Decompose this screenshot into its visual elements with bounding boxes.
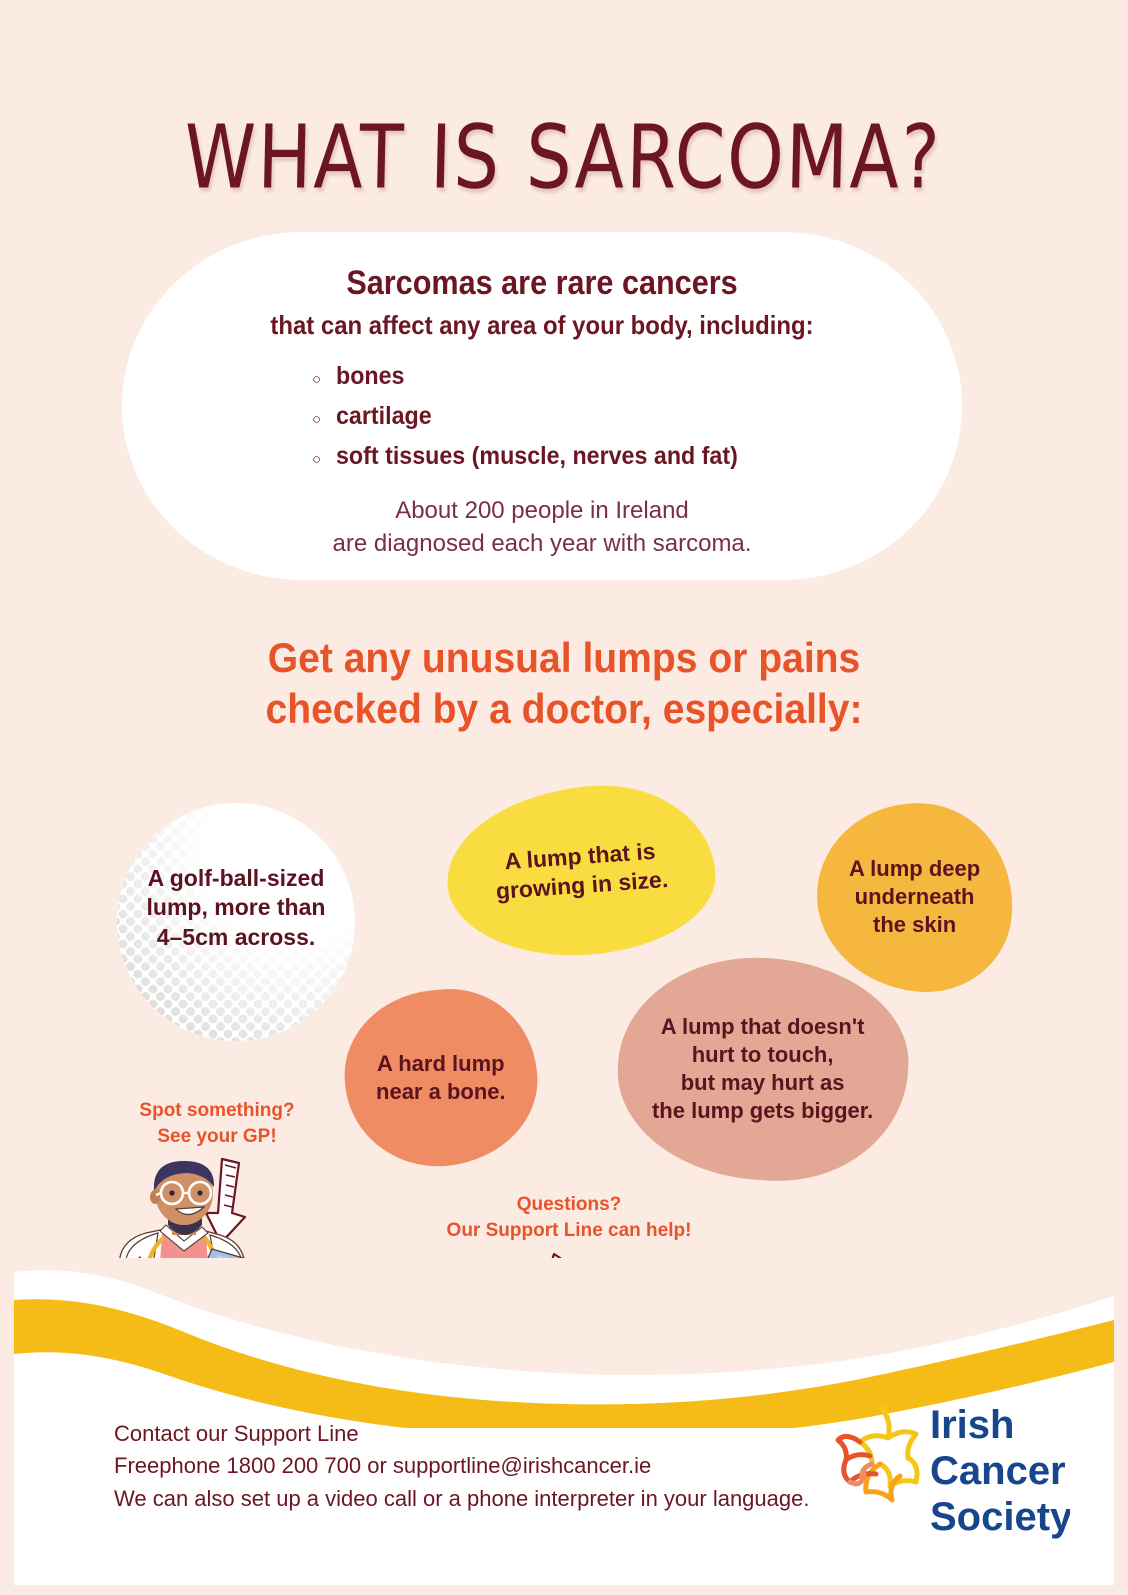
irish-cancer-society-logo: Irish Cancer Society [820,1392,1070,1542]
list-item: ○ cartilage [312,402,932,431]
info-card: Sarcomas are rare cancers that can affec… [122,232,962,580]
blob-line: near a bone. [376,1078,506,1106]
support-prompt-line-1: Questions? [414,1192,724,1218]
footer-line-2: Freephone 1800 200 700 or supportline@ir… [114,1450,809,1482]
card-subheading: that can affect any area of your body, i… [156,310,929,341]
gp-prompt-line-1: Spot something? [92,1098,342,1124]
bullet-circle-icon: ○ [312,412,336,427]
affected-areas-list: ○ bones ○ cartilage ○ soft tissues (musc… [312,362,932,482]
blob-line: A lump that doesn't [652,1013,873,1041]
blob-line: the skin [849,911,980,939]
cta-line-2: checked by a doctor, especially: [53,683,1076,734]
footer-line-3: We can also set up a video call or a pho… [114,1483,809,1515]
page-title: WHAT IS SARCOMA? [14,106,1114,208]
list-item: ○ soft tissues (muscle, nerves and fat) [312,442,932,471]
symptom-blob-text: A lump deep underneath the skin [849,855,980,939]
blob-line: 4–5cm across. [147,923,326,952]
gp-prompt-line-2: See your GP! [92,1124,342,1150]
list-item-label: cartilage [336,402,432,431]
statistic-text: About 200 people in Ireland are diagnose… [122,494,962,560]
statistic-line-2: are diagnosed each year with sarcoma. [122,527,962,560]
list-item-label: soft tissues (muscle, nerves and fat) [336,442,738,471]
symptom-blob-text: A hard lump near a bone. [376,1050,506,1106]
list-item: ○ bones [312,362,932,391]
daffodil-icon [838,1408,917,1500]
list-item-label: bones [336,362,404,391]
blob-line: A lump deep [849,855,980,883]
logo-word-society: Society [930,1495,1070,1539]
blob-line: hurt to touch, [652,1041,873,1069]
symptom-blob-text: A golf-ball-sized lump, more than 4–5cm … [147,864,326,980]
bullet-circle-icon: ○ [312,372,336,387]
blob-line: lump, more than [147,893,326,922]
support-prompt-line-2: Our Support Line can help! [414,1218,724,1244]
gp-prompt: Spot something? See your GP! [92,1098,342,1149]
card-heading: Sarcomas are rare cancers [164,264,920,303]
poster-root: WHAT IS SARCOMA? Sarcomas are rare cance… [0,0,1128,1595]
blob-line: A golf-ball-sized [147,864,326,893]
support-line-prompt: Questions? Our Support Line can help! [414,1192,724,1243]
blob-line: underneath [849,883,980,911]
footer-line-1: Contact our Support Line [114,1418,809,1450]
blob-line: but may hurt as [652,1069,873,1097]
bullet-circle-icon: ○ [312,452,336,467]
blob-line: A hard lump [376,1050,506,1078]
footer-contact: Contact our Support Line Freephone 1800 … [114,1418,809,1515]
logo-word-cancer: Cancer [930,1449,1066,1493]
symptom-blob-text: A lump that doesn't hurt to touch, but m… [652,1013,873,1126]
cta-line-1: Get any unusual lumps or pains [53,632,1076,683]
symptom-blob-text: A lump that is growing in size. [493,836,669,907]
call-to-action-heading: Get any unusual lumps or pains checked b… [53,632,1076,734]
statistic-line-1: About 200 people in Ireland [122,494,962,527]
logo-word-irish: Irish [930,1403,1014,1447]
blob-line: the lump gets bigger. [652,1097,873,1125]
poster-page: WHAT IS SARCOMA? Sarcomas are rare cance… [14,10,1114,1585]
symptom-blob-golf-ball: A golf-ball-sized lump, more than 4–5cm … [117,803,355,1041]
